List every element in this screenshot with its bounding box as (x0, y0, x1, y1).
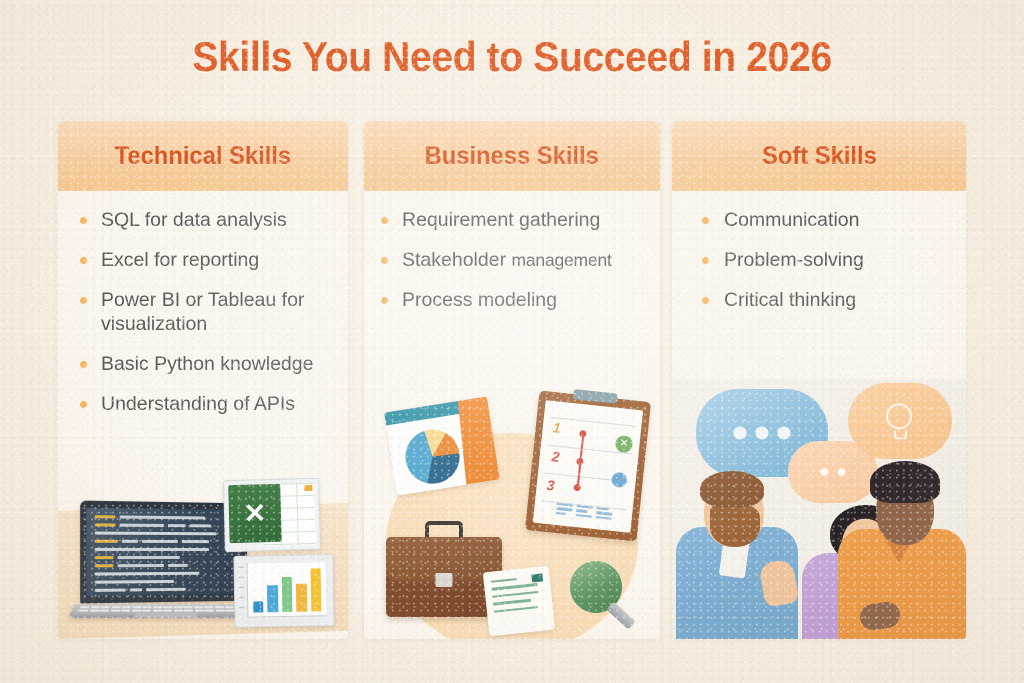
card-header-technical: Technical Skills (58, 121, 348, 191)
bullet-icon (80, 217, 87, 224)
document-corner-accent (453, 396, 500, 484)
pie-chart-icon (402, 426, 464, 488)
clipboard-icon: 1 2 3 ✕ (525, 391, 651, 542)
skill-columns: Technical Skills SQL for data analysis E… (0, 121, 1024, 639)
skill-label: SQL for data analysis (101, 208, 287, 233)
card-body-soft: Communication Problem-solving Critical t… (672, 191, 966, 312)
speech-bubble-idea-icon (848, 383, 952, 459)
skill-label: Excel for reporting (101, 248, 259, 273)
skill-label: Understanding of APIs (101, 392, 295, 417)
skill-label: Basic Python knowledge (101, 352, 313, 377)
briefcase-lock (436, 573, 453, 587)
card-technical-skills: Technical Skills SQL for data analysis E… (58, 121, 348, 639)
memo-document-icon (483, 566, 555, 637)
person-left-avatar (676, 481, 816, 639)
list-item: Basic Python knowledge (58, 352, 348, 377)
keyboard-keys (79, 606, 253, 611)
spreadsheet-x-glyph: ✕ (228, 484, 282, 543)
list-item: Excel for reporting (58, 248, 348, 273)
skill-label: Problem-solving (724, 248, 864, 273)
list-item: Communication (672, 208, 966, 233)
card-header-label: Business Skills (425, 142, 599, 171)
skill-label: Critical thinking (724, 288, 856, 313)
list-item: Problem-solving (672, 248, 966, 273)
bullet-icon (80, 257, 87, 264)
list-item: Process modeling (364, 288, 660, 313)
magnifier-icon (570, 561, 626, 617)
laptop-illustration: ✕ (58, 464, 348, 639)
bar-chart-icon (233, 554, 334, 628)
list-item: Critical thinking (672, 288, 966, 313)
bullet-icon (80, 401, 87, 408)
step-number-3: 3 (546, 477, 555, 494)
card-soft-skills: Soft Skills Communication Problem-solvin… (672, 121, 966, 639)
business-illustration: 1 2 3 ✕ (364, 394, 660, 639)
skill-label-tail: management (512, 250, 612, 270)
skill-label: Communication (724, 208, 859, 233)
bullet-icon (381, 297, 388, 304)
list-item: SQL for data analysis (58, 208, 348, 233)
people-illustration (672, 379, 966, 639)
skill-label: Power BI or Tableau for visualization (101, 288, 319, 338)
card-header-label: Technical Skills (115, 142, 291, 171)
card-header-label: Soft Skills (762, 142, 877, 171)
list-item: Stakeholder management (364, 248, 660, 273)
ellipsis-dots (734, 427, 791, 440)
skill-label: Requirement gathering (402, 208, 600, 233)
bullet-icon (80, 297, 87, 304)
step-number-1: 1 (552, 419, 561, 436)
card-body-business: Requirement gathering Stakeholder manage… (364, 191, 660, 312)
memo-tab (531, 573, 543, 582)
chart-bars (247, 562, 327, 617)
pie-chart-document (384, 396, 500, 495)
card-header-business: Business Skills (364, 121, 660, 191)
clipboard-paper: 1 2 3 ✕ (533, 400, 643, 533)
list-item: Power BI or Tableau for visualization (58, 288, 348, 338)
magnifier-handle (606, 601, 636, 629)
page-title: Skills You Need to Succeed in 2026 (36, 33, 988, 81)
card-business-skills: Business Skills Requirement gathering St… (364, 121, 660, 639)
bullet-icon (80, 361, 87, 368)
clipboard-clamp (573, 389, 618, 404)
dot-badge (611, 472, 627, 488)
bullet-icon (381, 217, 388, 224)
laptop-screen (86, 508, 241, 596)
laptop-lid (80, 501, 247, 604)
skill-list-technical: SQL for data analysis Excel for reportin… (58, 208, 348, 417)
skill-label: Stakeholder management (402, 248, 612, 273)
bullet-icon (702, 257, 709, 264)
person-right-avatar (826, 461, 966, 639)
lightbulb-icon (886, 403, 914, 437)
chart-axis-ticks (239, 567, 245, 617)
spreadsheet-icon: ✕ (223, 478, 321, 552)
trackpad (134, 612, 198, 617)
skill-list-business: Requirement gathering Stakeholder manage… (364, 208, 660, 312)
bullet-icon (702, 217, 709, 224)
card-header-soft: Soft Skills (672, 121, 966, 191)
skill-list-soft: Communication Problem-solving Critical t… (672, 208, 966, 312)
card-body-technical: SQL for data analysis Excel for reportin… (58, 191, 348, 417)
skill-label: Process modeling (402, 288, 557, 313)
bullet-icon (381, 257, 388, 264)
check-badge: ✕ (615, 435, 634, 454)
list-item: Requirement gathering (364, 208, 660, 233)
mini-bar-rows (556, 503, 613, 522)
step-number-2: 2 (551, 448, 560, 465)
bullet-icon (702, 297, 709, 304)
list-item: Understanding of APIs (58, 392, 348, 417)
